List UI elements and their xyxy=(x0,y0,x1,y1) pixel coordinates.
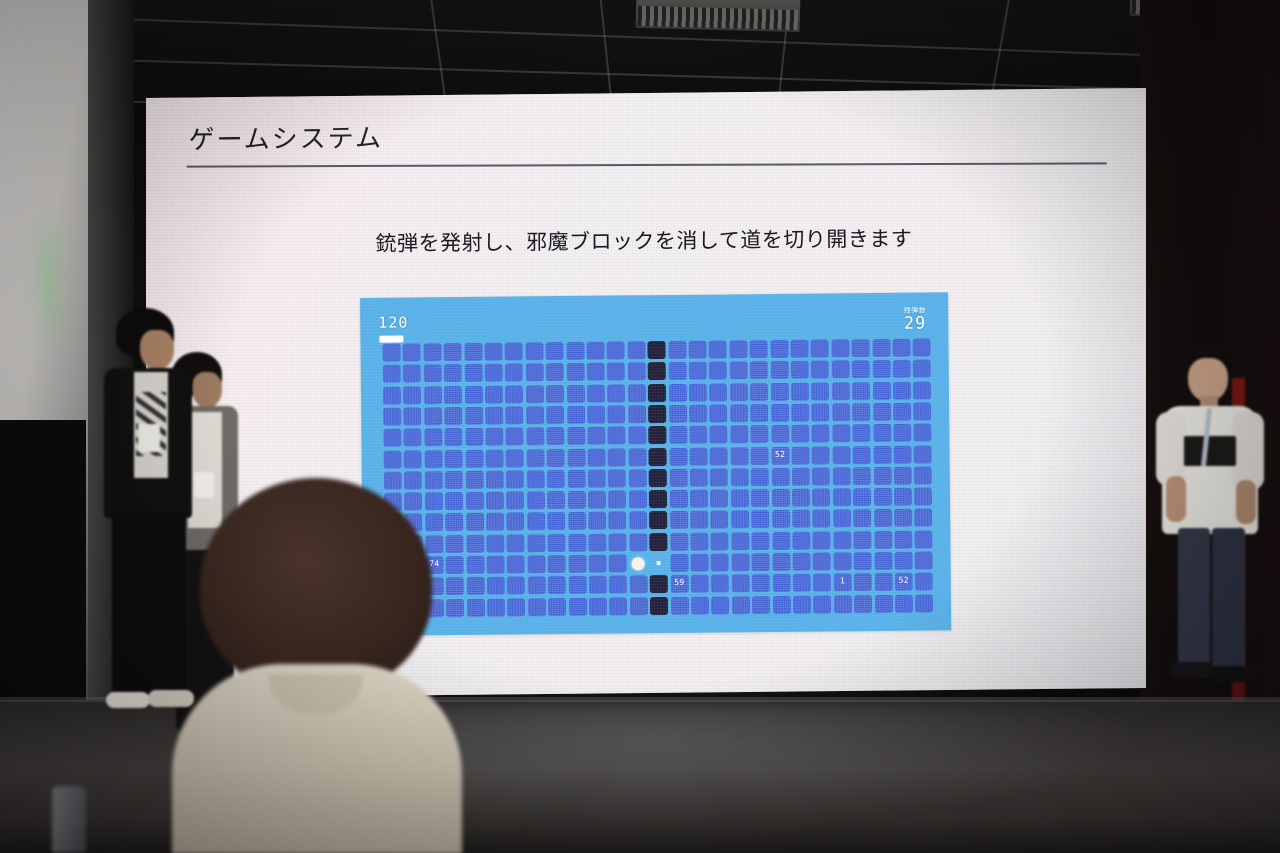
arm xyxy=(1166,476,1186,522)
block xyxy=(444,407,462,425)
block xyxy=(874,531,892,549)
block xyxy=(791,425,809,443)
block xyxy=(772,510,790,528)
block xyxy=(486,513,504,531)
block xyxy=(628,384,646,402)
block xyxy=(403,386,421,404)
block xyxy=(751,447,769,465)
photo-scene: ゲームシステム 銃弾を発射し、邪魔ブロックを消して道を切り開きます 120 残弾… xyxy=(0,0,1280,853)
block xyxy=(790,340,808,358)
block xyxy=(669,426,687,444)
block xyxy=(873,445,891,463)
block: 52 xyxy=(895,573,913,591)
block xyxy=(731,553,749,571)
block xyxy=(568,533,586,551)
block xyxy=(609,533,627,551)
block xyxy=(873,403,891,421)
block xyxy=(466,513,484,531)
block xyxy=(772,553,790,571)
block xyxy=(608,427,626,445)
block xyxy=(709,383,727,401)
block xyxy=(915,530,933,548)
shoe xyxy=(1168,662,1214,678)
block xyxy=(525,363,543,381)
block xyxy=(894,530,912,548)
block xyxy=(710,426,728,444)
block xyxy=(852,339,870,357)
block xyxy=(587,384,605,402)
block xyxy=(854,595,872,613)
block xyxy=(505,364,523,382)
block xyxy=(587,363,605,381)
block xyxy=(914,466,932,484)
block xyxy=(914,509,932,527)
bullet xyxy=(657,561,661,565)
block xyxy=(710,511,728,529)
block xyxy=(812,467,830,485)
block xyxy=(894,552,912,570)
block xyxy=(690,532,708,550)
block xyxy=(669,405,687,423)
block xyxy=(813,531,831,549)
ceiling-vent-icon xyxy=(636,0,801,32)
block xyxy=(507,555,525,573)
obstacle-block xyxy=(649,448,667,466)
block xyxy=(527,534,545,552)
block xyxy=(630,597,648,615)
hud-score: 120 xyxy=(378,313,408,331)
block xyxy=(528,598,546,616)
block xyxy=(589,597,607,615)
title-divider xyxy=(187,162,1107,167)
block xyxy=(874,552,892,570)
block xyxy=(445,449,463,467)
block xyxy=(465,492,483,510)
block xyxy=(691,596,709,614)
block xyxy=(852,360,870,378)
block xyxy=(528,576,546,594)
block xyxy=(546,427,564,445)
block xyxy=(383,365,401,383)
block xyxy=(608,469,626,487)
block xyxy=(854,552,872,570)
block xyxy=(832,424,850,442)
block xyxy=(710,447,728,465)
block xyxy=(609,597,627,615)
block xyxy=(750,361,768,379)
block xyxy=(526,449,544,467)
block xyxy=(527,555,545,573)
block-number: 59 xyxy=(670,578,688,587)
block xyxy=(750,340,768,358)
block xyxy=(853,509,871,527)
obstacle-block xyxy=(648,426,666,444)
block xyxy=(813,595,831,613)
block xyxy=(913,402,931,420)
block xyxy=(893,381,911,399)
block xyxy=(913,338,931,356)
block xyxy=(751,489,769,507)
block xyxy=(526,406,544,424)
block xyxy=(506,491,524,509)
block xyxy=(873,488,891,506)
block xyxy=(811,361,829,379)
block xyxy=(608,448,626,466)
block xyxy=(813,552,831,570)
block xyxy=(711,596,729,614)
face xyxy=(140,330,174,370)
block xyxy=(444,343,462,361)
block xyxy=(485,406,503,424)
obstacle-block xyxy=(649,469,667,487)
block xyxy=(833,488,851,506)
face xyxy=(192,372,222,408)
block xyxy=(588,491,606,509)
block xyxy=(668,383,686,401)
block xyxy=(731,532,749,550)
block xyxy=(444,364,462,382)
obstacle-block xyxy=(649,533,667,551)
block xyxy=(404,450,422,468)
block xyxy=(546,363,564,381)
block xyxy=(484,343,502,361)
block xyxy=(627,341,645,359)
block xyxy=(547,534,565,552)
block xyxy=(566,342,584,360)
block xyxy=(548,576,566,594)
block xyxy=(893,445,911,463)
block xyxy=(711,532,729,550)
obstacle-block xyxy=(649,490,667,508)
obstacle-block xyxy=(648,384,666,402)
hud-ammo: 残弾数 29 xyxy=(904,307,927,333)
block xyxy=(915,594,933,612)
block xyxy=(688,341,706,359)
block xyxy=(628,426,646,444)
block xyxy=(690,511,708,529)
block xyxy=(752,553,770,571)
block xyxy=(771,468,789,486)
block xyxy=(668,341,686,359)
hud-ammo-value: 29 xyxy=(904,315,927,333)
block xyxy=(874,509,892,527)
block xyxy=(507,598,525,616)
block xyxy=(628,469,646,487)
block xyxy=(834,595,852,613)
block xyxy=(464,385,482,403)
block xyxy=(731,489,749,507)
block xyxy=(811,382,829,400)
block xyxy=(872,381,890,399)
block xyxy=(873,467,891,485)
block xyxy=(629,512,647,530)
block xyxy=(853,488,871,506)
block xyxy=(526,385,544,403)
block xyxy=(873,424,891,442)
block xyxy=(710,468,728,486)
block xyxy=(832,446,850,464)
block xyxy=(424,428,442,446)
block xyxy=(547,448,565,466)
block xyxy=(486,470,504,488)
block xyxy=(874,594,892,612)
block xyxy=(588,512,606,530)
block xyxy=(669,490,687,508)
audience-member xyxy=(172,478,462,853)
block xyxy=(525,342,543,360)
block xyxy=(526,470,544,488)
block xyxy=(568,576,586,594)
block xyxy=(772,574,790,592)
tshirt-graphic xyxy=(1184,436,1236,466)
block xyxy=(894,488,912,506)
block xyxy=(424,386,442,404)
block xyxy=(874,573,892,591)
block xyxy=(383,407,401,425)
block xyxy=(793,595,811,613)
block xyxy=(893,403,911,421)
block xyxy=(833,552,851,570)
block xyxy=(813,574,831,592)
block xyxy=(751,532,769,550)
block xyxy=(915,573,933,591)
block xyxy=(711,553,729,571)
sleeve xyxy=(1156,412,1186,486)
block xyxy=(669,469,687,487)
block xyxy=(791,446,809,464)
obstacle-block xyxy=(648,341,666,359)
block xyxy=(752,574,770,592)
block xyxy=(569,597,587,615)
block xyxy=(507,534,525,552)
block xyxy=(628,448,646,466)
block xyxy=(770,340,788,358)
block xyxy=(732,596,750,614)
block xyxy=(547,470,565,488)
block xyxy=(607,363,625,381)
block xyxy=(485,364,503,382)
shoe xyxy=(106,692,150,708)
block-number: 52 xyxy=(895,576,913,585)
block xyxy=(792,489,810,507)
block xyxy=(771,489,789,507)
block xyxy=(751,510,769,528)
block xyxy=(607,341,625,359)
block xyxy=(913,381,931,399)
block xyxy=(690,468,708,486)
block xyxy=(811,339,829,357)
block xyxy=(587,448,605,466)
block xyxy=(914,488,932,506)
block xyxy=(895,594,913,612)
block xyxy=(752,596,770,614)
block: 52 xyxy=(771,446,789,464)
slide-title: ゲームシステム xyxy=(188,118,383,157)
block xyxy=(892,339,910,357)
shoe xyxy=(1210,666,1258,682)
block xyxy=(466,577,484,595)
block xyxy=(709,362,727,380)
block xyxy=(812,489,830,507)
pants xyxy=(1212,528,1245,670)
block xyxy=(853,446,871,464)
block xyxy=(424,450,442,468)
block xyxy=(588,533,606,551)
obstacle-block xyxy=(650,597,668,615)
block xyxy=(465,428,483,446)
block xyxy=(689,426,707,444)
block xyxy=(607,384,625,402)
block xyxy=(915,551,933,569)
block xyxy=(506,513,524,531)
block xyxy=(771,425,789,443)
block xyxy=(423,364,441,382)
block xyxy=(526,427,544,445)
block xyxy=(670,596,688,614)
block xyxy=(711,575,729,593)
block xyxy=(729,340,747,358)
obstacle-block xyxy=(648,405,666,423)
block xyxy=(547,512,565,530)
block xyxy=(568,555,586,573)
block xyxy=(382,344,400,362)
block xyxy=(485,428,503,446)
block xyxy=(750,383,768,401)
block xyxy=(833,510,851,528)
block xyxy=(771,404,789,422)
water-bottle xyxy=(52,786,86,853)
block xyxy=(670,533,688,551)
block xyxy=(913,360,931,378)
block xyxy=(588,469,606,487)
block xyxy=(465,471,483,489)
block xyxy=(668,362,686,380)
block xyxy=(527,513,545,531)
block xyxy=(467,598,485,616)
block xyxy=(487,577,505,595)
block xyxy=(383,386,401,404)
block xyxy=(730,425,748,443)
block xyxy=(485,385,503,403)
block xyxy=(403,343,421,361)
block xyxy=(567,491,585,509)
block xyxy=(609,576,627,594)
block xyxy=(750,425,768,443)
block xyxy=(853,531,871,549)
block xyxy=(772,595,790,613)
obstacle-block xyxy=(649,511,667,529)
block xyxy=(730,404,748,422)
block xyxy=(567,427,585,445)
block xyxy=(586,342,604,360)
block xyxy=(404,429,422,447)
block xyxy=(567,470,585,488)
block xyxy=(689,362,707,380)
block xyxy=(628,405,646,423)
block xyxy=(444,428,462,446)
block xyxy=(466,556,484,574)
block xyxy=(423,343,441,361)
block xyxy=(893,424,911,442)
block xyxy=(812,510,830,528)
block xyxy=(383,429,401,447)
block: 1 xyxy=(833,574,851,592)
block xyxy=(607,405,625,423)
block xyxy=(770,361,788,379)
block xyxy=(791,382,809,400)
block xyxy=(527,491,545,509)
block xyxy=(831,361,849,379)
block xyxy=(852,403,870,421)
block xyxy=(730,383,748,401)
block xyxy=(690,554,708,572)
block xyxy=(914,424,932,442)
block xyxy=(383,450,401,468)
block xyxy=(506,449,524,467)
block xyxy=(852,424,870,442)
block xyxy=(791,361,809,379)
block xyxy=(546,406,564,424)
block xyxy=(464,364,482,382)
block xyxy=(729,362,747,380)
obstacle-block xyxy=(650,575,668,593)
block xyxy=(608,491,626,509)
block xyxy=(587,405,605,423)
block xyxy=(487,556,505,574)
name-badge xyxy=(138,424,160,452)
block xyxy=(548,555,566,573)
block xyxy=(403,365,421,383)
block xyxy=(465,407,483,425)
arm xyxy=(1236,480,1256,524)
block xyxy=(546,342,564,360)
block xyxy=(669,447,687,465)
block xyxy=(609,554,627,572)
block xyxy=(792,531,810,549)
block-number: 52 xyxy=(771,449,789,458)
block xyxy=(627,363,645,381)
block xyxy=(691,575,709,593)
block xyxy=(567,448,585,466)
block xyxy=(853,467,871,485)
block xyxy=(567,406,585,424)
obstacle-block xyxy=(648,362,666,380)
block xyxy=(689,383,707,401)
sleeve xyxy=(1232,412,1264,490)
block-number: 1 xyxy=(834,577,852,586)
block xyxy=(731,511,749,529)
block xyxy=(465,449,483,467)
block xyxy=(751,468,769,486)
block xyxy=(464,343,482,361)
block xyxy=(872,360,890,378)
block xyxy=(872,339,890,357)
hair xyxy=(200,478,432,694)
block xyxy=(792,510,810,528)
block xyxy=(772,532,790,550)
block xyxy=(730,447,748,465)
block xyxy=(812,425,830,443)
block xyxy=(547,491,565,509)
block xyxy=(608,512,626,530)
block xyxy=(833,531,851,549)
block xyxy=(505,342,523,360)
block xyxy=(852,382,870,400)
block xyxy=(403,407,421,425)
block xyxy=(589,555,607,573)
block: 59 xyxy=(670,575,688,593)
block xyxy=(831,339,849,357)
